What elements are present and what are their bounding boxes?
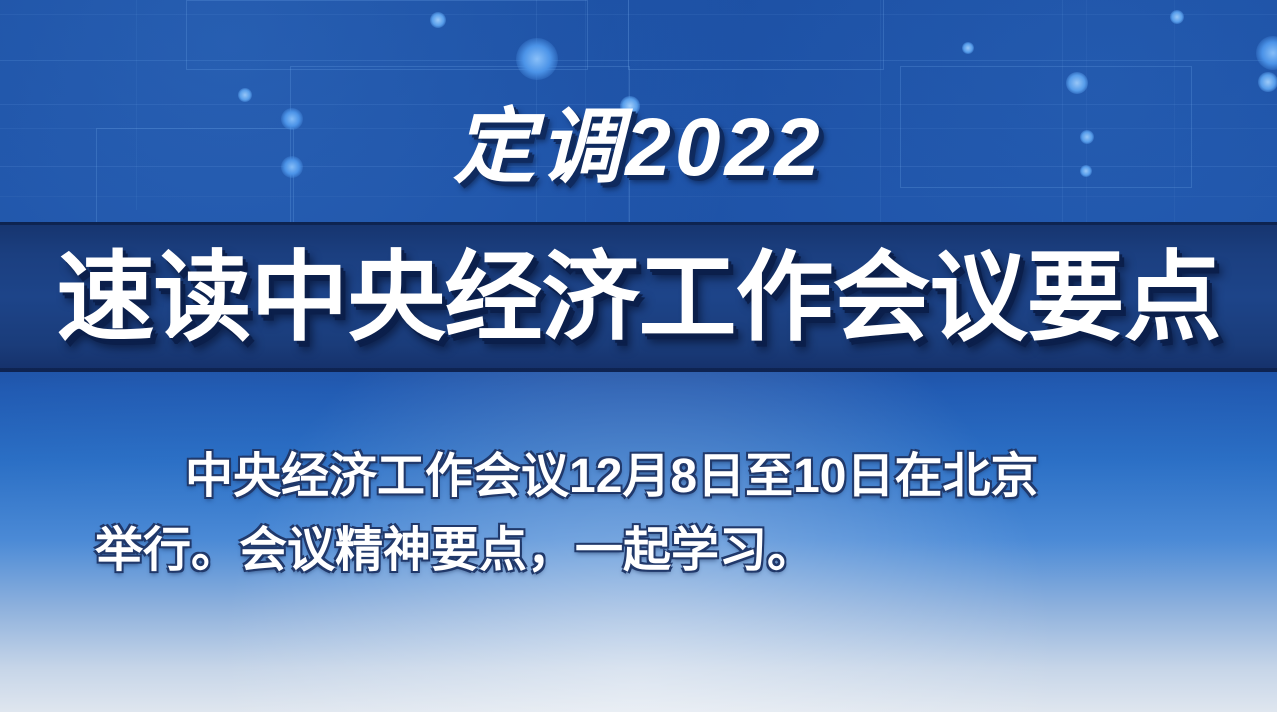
title-kicker: 定调2022: [0, 100, 1277, 196]
page-title: 速读中央经济工作会议要点: [0, 234, 1277, 360]
body-copy: 中央经济工作会议12月8日至10日在北京 举行。会议精神要点，一起学习。: [95, 440, 1190, 588]
poster-canvas: 定调2022 速读中央经济工作会议要点 中央经济工作会议12月8日至10日在北京…: [0, 0, 1277, 712]
body-line: 举行。会议精神要点，一起学习。: [95, 514, 1190, 588]
body-line: 中央经济工作会议12月8日至10日在北京: [95, 440, 1190, 514]
